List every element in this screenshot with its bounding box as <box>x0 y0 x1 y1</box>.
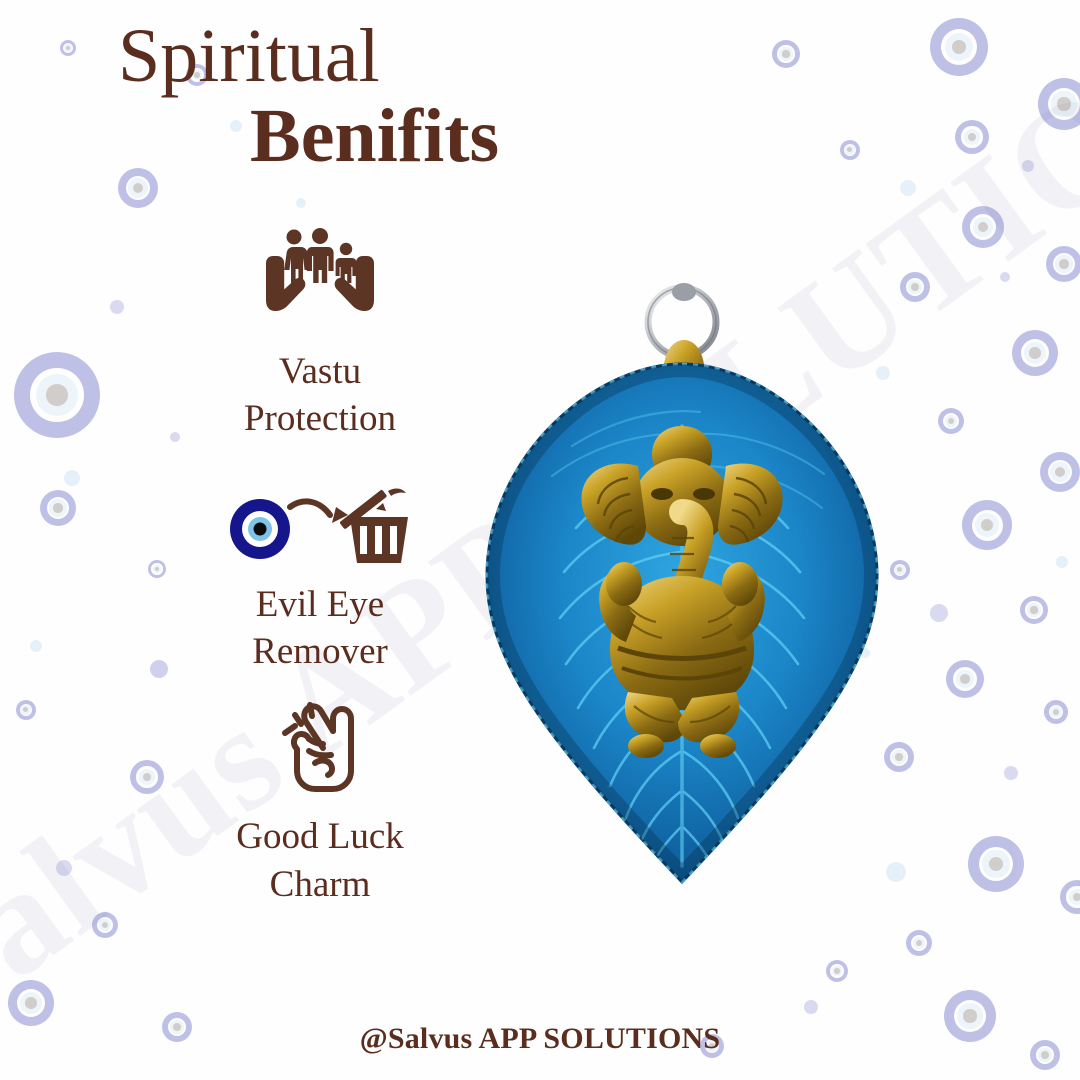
evil-eye-motif <box>92 912 118 938</box>
evil-eye-motif <box>1040 452 1080 492</box>
evil-eye-motif <box>1020 596 1048 624</box>
benefits-list: Vastu Protection <box>150 228 490 926</box>
evil-eye-motif <box>1060 880 1080 914</box>
background-dot <box>30 640 42 652</box>
benefit-item-vastu-protection: Vastu Protection <box>150 228 490 443</box>
evil-eye-motif <box>962 500 1012 550</box>
evil-eye-motif <box>826 960 848 982</box>
nazar-amulet <box>230 499 290 559</box>
benefit-label-vastu-protection: Vastu Protection <box>244 348 396 443</box>
evil-eye-motif <box>946 660 984 698</box>
evil-eye-motif <box>930 18 988 76</box>
background-dot <box>296 198 306 208</box>
benefit-item-good-luck-charm: Good Luck Charm <box>150 693 490 908</box>
background-dot <box>1004 766 1018 780</box>
evil-eye-to-trash-icon <box>228 461 412 565</box>
background-dot <box>56 860 72 876</box>
headline-line-2: Benifits <box>0 98 640 176</box>
benefit-label-line-1: Good Luck <box>236 813 404 860</box>
benefit-label-line-1: Vastu <box>244 348 396 395</box>
evil-eye-motif <box>772 40 800 68</box>
evil-eye-motif <box>40 490 76 526</box>
background-dot <box>64 470 80 486</box>
evil-eye-motif <box>1046 246 1080 282</box>
evil-eye-motif <box>14 352 100 438</box>
evil-eye-motif <box>906 930 932 956</box>
family-in-hands-icon <box>258 228 382 332</box>
evil-eye-motif <box>840 140 860 160</box>
benefit-label-evil-eye-remover: Evil Eye Remover <box>252 581 388 676</box>
evil-eye-motif <box>8 980 54 1026</box>
background-dot <box>1022 160 1034 172</box>
page-title: Spiritual Benifits <box>0 18 640 176</box>
headline-line-1: Spiritual <box>0 18 640 94</box>
evil-eye-motif <box>962 206 1004 248</box>
background-dot <box>900 180 916 196</box>
benefit-label-line-2: Remover <box>252 628 388 675</box>
benefit-label-line-2: Charm <box>236 861 404 908</box>
poster-canvas: @Salvus APP SOLUTIONS Spiritual Benifits <box>0 0 1080 1080</box>
evil-eye-motif <box>1038 78 1080 130</box>
benefit-label-line-1: Evil Eye <box>252 581 388 628</box>
footer-handle-text: @Salvus APP SOLUTIONS <box>360 1022 721 1055</box>
background-dot <box>804 1000 818 1014</box>
background-dot <box>1056 556 1068 568</box>
background-dot <box>1000 272 1010 282</box>
evil-eye-motif <box>1012 330 1058 376</box>
footer-brand: @Salvus APP SOLUTIONS <box>0 1022 1080 1056</box>
evil-eye-motif <box>1044 700 1068 724</box>
benefit-item-evil-eye-remover: Evil Eye Remover <box>150 461 490 676</box>
benefit-label-good-luck-charm: Good Luck Charm <box>236 813 404 908</box>
evil-eye-motif <box>938 408 964 434</box>
evil-eye-motif <box>955 120 989 154</box>
evil-eye-motif <box>968 836 1024 892</box>
product-image-ganesha-leaf-wall-hanging <box>432 276 932 896</box>
crossed-fingers-icon <box>265 693 375 797</box>
background-dot <box>930 604 948 622</box>
background-dot <box>110 300 124 314</box>
evil-eye-motif <box>16 700 36 720</box>
benefit-label-line-2: Protection <box>244 395 396 442</box>
